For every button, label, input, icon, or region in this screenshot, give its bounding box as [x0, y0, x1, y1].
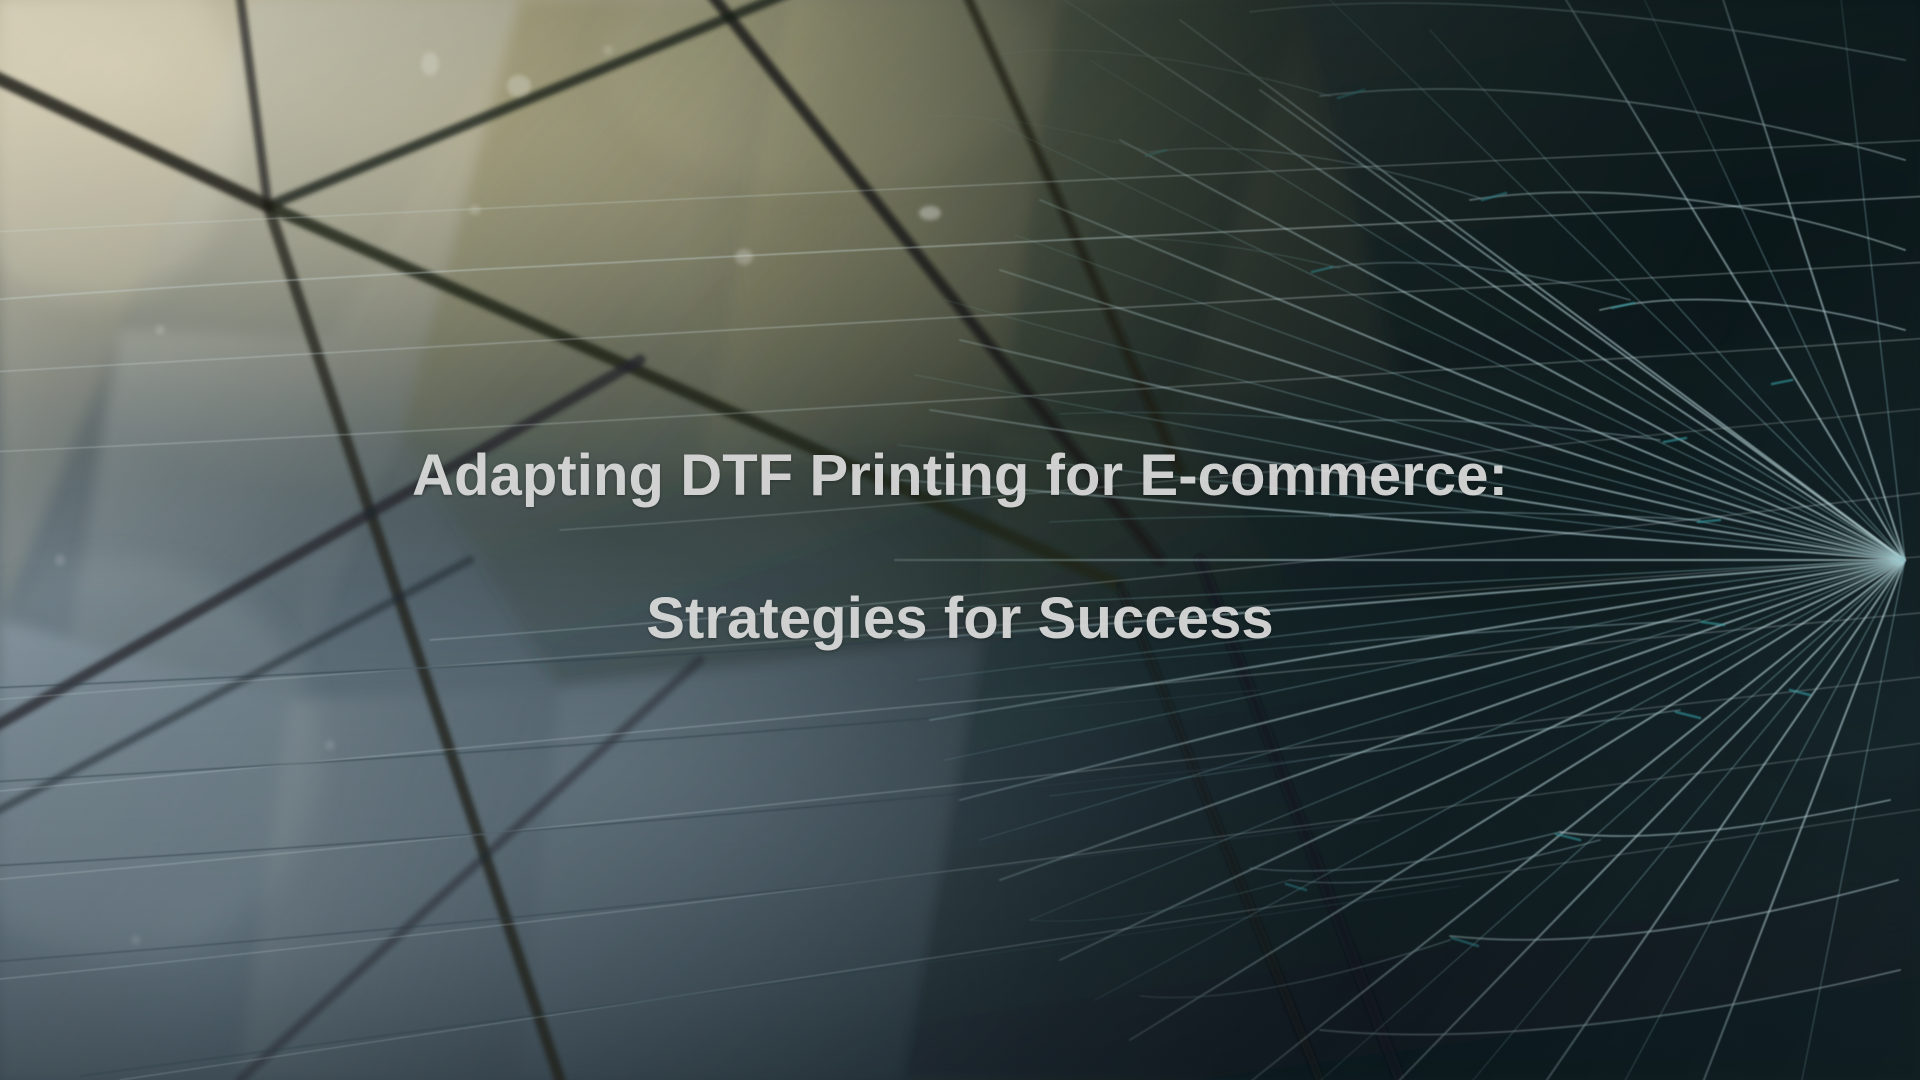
banner-title-block: Adapting DTF Printing for E-commerce: St… — [0, 404, 1920, 690]
banner-title-line-2: Strategies for Success — [646, 547, 1274, 690]
hero-banner: Adapting DTF Printing for E-commerce: St… — [0, 0, 1920, 1080]
banner-title-line-1: Adapting DTF Printing for E-commerce: — [412, 404, 1508, 547]
